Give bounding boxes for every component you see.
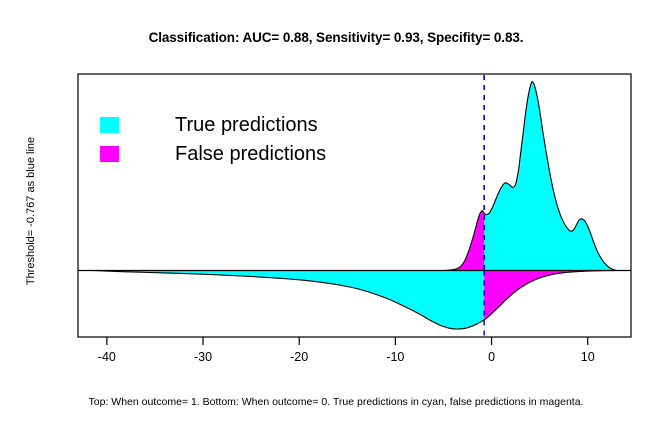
legend-label-true: True predictions [175,115,318,135]
x-axis-tick-label: 0 [472,350,512,364]
legend-item-false: False predictions [100,139,326,168]
chart-legend: True predictions False predictions [100,110,326,168]
legend-item-true: True predictions [100,110,326,139]
plot-area [0,0,672,432]
chart-caption: Top: When outcome= 1. Bottom: When outco… [0,396,672,408]
magenta-square-swatch-icon [100,146,119,162]
x-axis-tick-label: -20 [279,350,319,364]
x-axis-tick-label: -30 [183,350,223,364]
x-axis-tick-label: 10 [568,350,608,364]
chart-canvas: Classification: AUC= 0.88, Sensitivity= … [0,0,672,432]
x-axis-tick-label: -10 [375,350,415,364]
legend-label-false: False predictions [175,144,326,164]
cyan-square-swatch-icon [100,117,119,133]
x-axis-tick-label: -40 [87,350,127,364]
